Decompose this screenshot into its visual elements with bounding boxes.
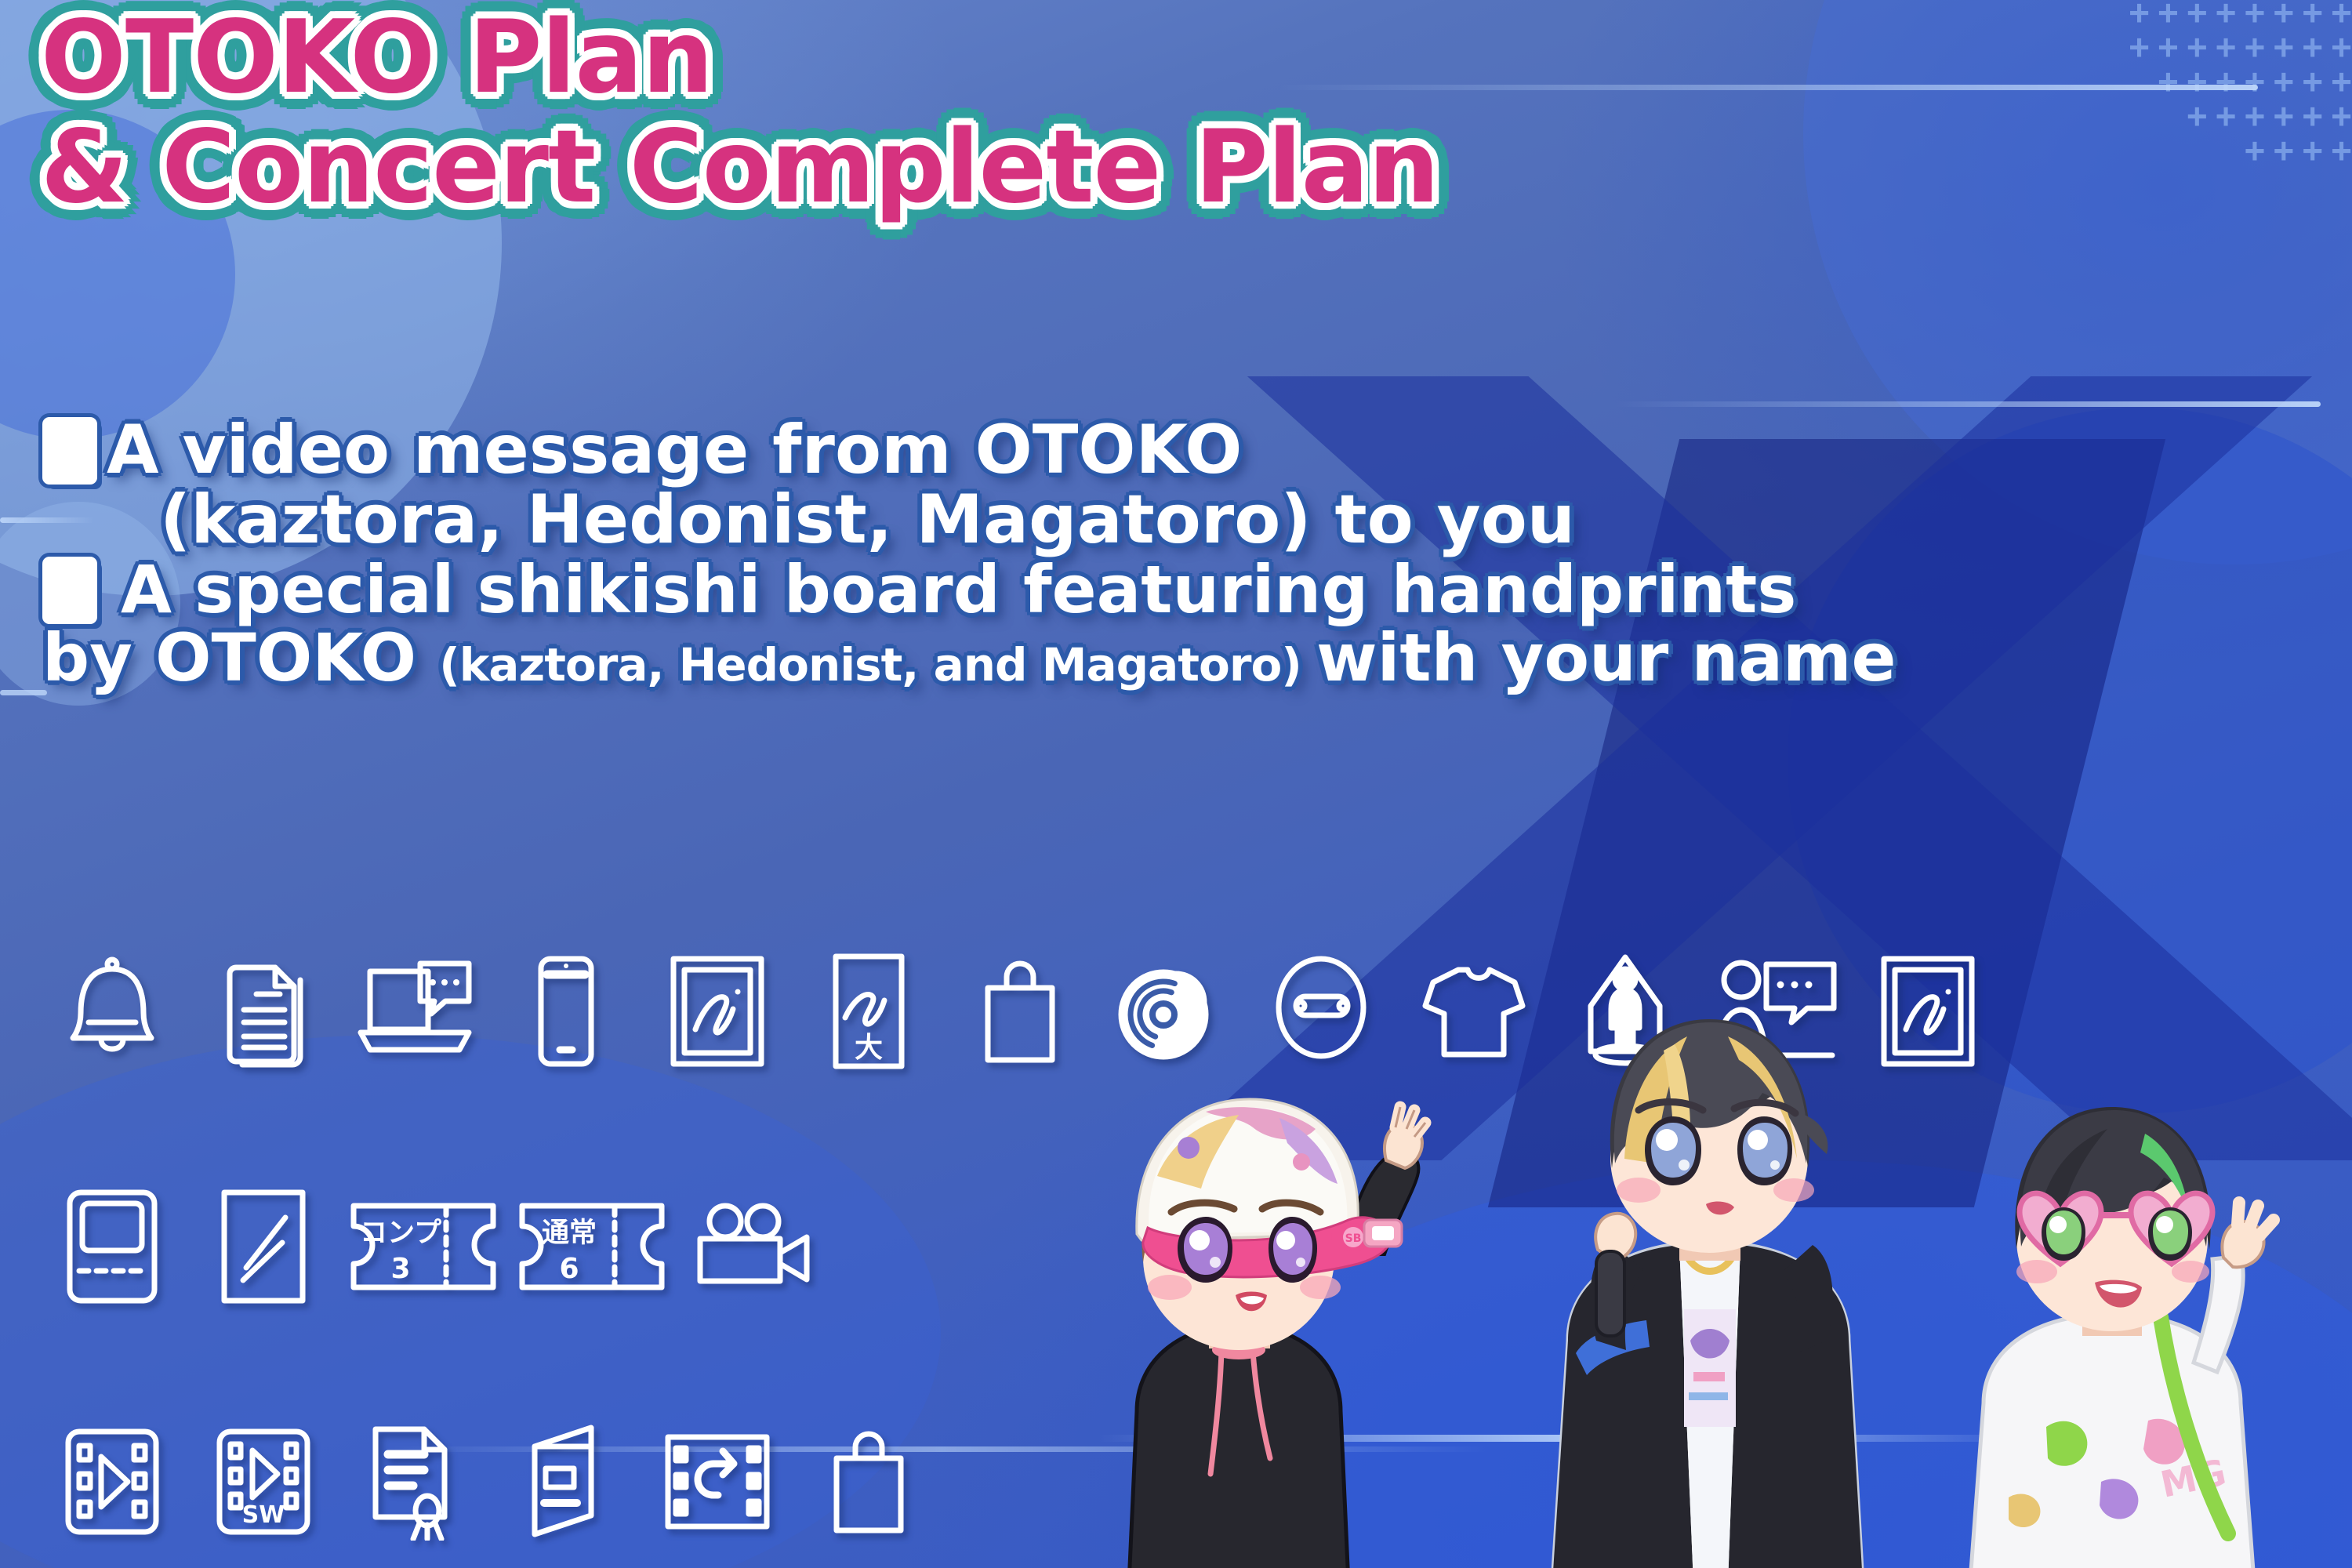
ticket-comp-icon: コンプ 3 — [339, 1168, 507, 1325]
shikishi-board-icon — [187, 1168, 339, 1325]
character-right: MG — [1905, 1058, 2352, 1568]
decor-line — [1615, 401, 2321, 407]
ticket-normal-icon: 通常 6 — [507, 1168, 676, 1325]
benefit-2-suffix: with your name — [1316, 624, 1896, 692]
video-rewind-icon — [641, 1403, 793, 1560]
framed-signature-icon — [641, 933, 793, 1090]
benefit-item-2-line-2: by OTOKO (kaztora, Hedonist, and Magator… — [42, 624, 2332, 692]
benefit-list: A video message from OTOKO (kaztora, Hed… — [42, 416, 2332, 693]
benefit-1-subtext: (kaztora, Hedonist, Magatoro) to you — [160, 485, 1575, 555]
ticket-label: コンプ — [360, 1218, 441, 1249]
svg-text:SB: SB — [1345, 1232, 1362, 1245]
benefit-item-1-line-1: A video message from OTOKO — [42, 416, 2332, 485]
ticket-count: 6 — [559, 1253, 579, 1285]
character-illustrations: SB — [1004, 949, 2352, 1568]
bell-icon — [36, 933, 187, 1090]
benefit-2-members: (kaztora, Hedonist, and Magatoro) — [439, 641, 1316, 688]
benefit-item-2-line-1: A special shikishi board featuring handp… — [42, 556, 2332, 624]
shopping-bag-icon — [793, 1403, 944, 1560]
documents-icon — [187, 933, 339, 1090]
checkbox-square-icon — [42, 557, 97, 624]
ticket-count: 3 — [390, 1253, 410, 1285]
ticket-label: 通常 — [541, 1218, 596, 1249]
benefit-1-text: A video message from OTOKO — [107, 416, 1242, 485]
banner-root: ++++++++ ++++++++ +++++++ ++++++ ++++ OT… — [0, 0, 2352, 1568]
icon-label: SW — [241, 1501, 285, 1529]
title-line-2: & Concert Complete Plan — [41, 118, 2299, 218]
decor-line — [0, 690, 47, 695]
checkbox-square-icon — [42, 417, 97, 485]
banner-title: OTOKO Plan & Concert Complete Plan — [41, 8, 2299, 218]
benefit-item-1-line-2: (kaztora, Hedonist, Magatoro) to you — [42, 485, 2332, 555]
video-play-sw-icon: SW — [187, 1403, 339, 1560]
signature-large-icon: 大 — [793, 933, 944, 1090]
icon-label: 大 — [854, 1032, 882, 1064]
benefit-2-prefix: by OTOKO — [42, 624, 439, 692]
title-line-1: OTOKO Plan — [41, 8, 2299, 108]
certificate-icon — [339, 1403, 490, 1560]
video-camera-icon — [676, 1168, 827, 1325]
video-play-icon — [36, 1403, 187, 1560]
laptop-chat-icon — [339, 933, 490, 1090]
smartphone-icon — [490, 933, 641, 1090]
booklet-icon — [490, 1403, 641, 1560]
benefit-2-text: A special shikishi board featuring handp… — [121, 556, 1796, 624]
card-dashed-icon — [36, 1168, 187, 1325]
